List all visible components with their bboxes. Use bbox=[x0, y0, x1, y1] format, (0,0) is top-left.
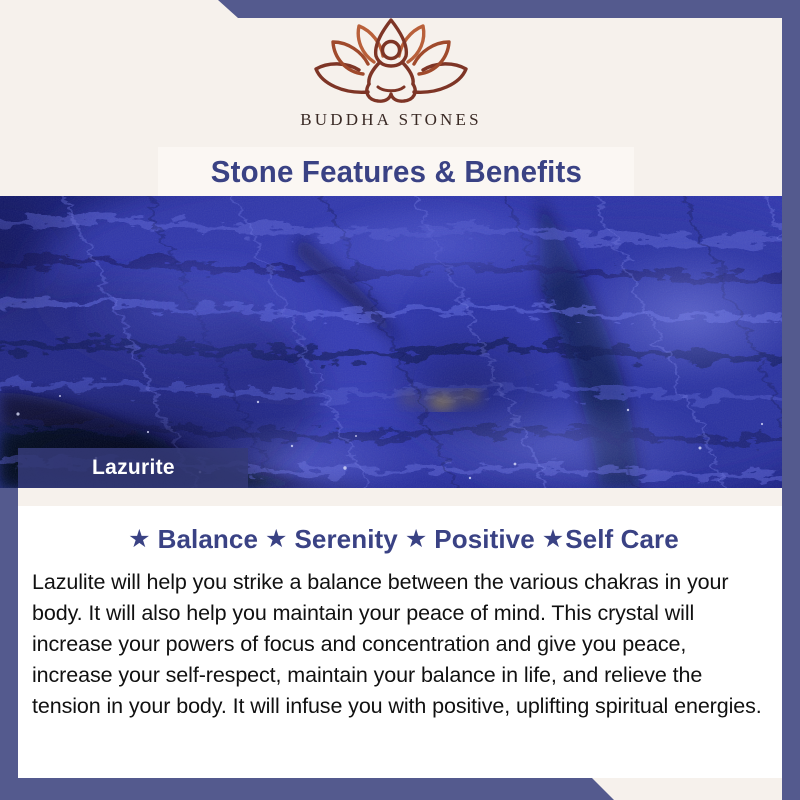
page-title: Stone Features & Benefits bbox=[210, 154, 581, 190]
stone-name-label: Lazurite bbox=[18, 456, 175, 480]
keyword-balance: Balance bbox=[158, 524, 258, 555]
content-panel: ★ Balance ★ Serenity ★ Positive ★ Self C… bbox=[18, 506, 782, 778]
decor-left-bar bbox=[0, 488, 18, 800]
keyword-list: ★ Balance ★ Serenity ★ Positive ★ Self C… bbox=[18, 506, 782, 555]
stone-info-poster: BUDDHA STONES Stone Features & Benefits bbox=[0, 0, 800, 800]
stone-texture-graphic bbox=[0, 196, 800, 488]
keyword-serenity: Serenity bbox=[294, 524, 397, 555]
decor-right-bar bbox=[782, 0, 800, 800]
stone-name-bar: Lazurite bbox=[18, 448, 248, 488]
brand-logo: BUDDHA STONES bbox=[0, 14, 782, 130]
keyword-positive: Positive bbox=[434, 524, 535, 555]
decor-bottom-bar bbox=[0, 778, 800, 800]
title-band: Stone Features & Benefits bbox=[158, 147, 634, 196]
lotus-meditation-figure-icon bbox=[306, 14, 476, 106]
stone-description: Lazulite will help you strike a balance … bbox=[32, 567, 768, 722]
cream-divider-strip bbox=[0, 488, 782, 506]
star-icon: ★ bbox=[398, 527, 434, 552]
brand-name: BUDDHA STONES bbox=[300, 110, 482, 130]
keyword-self-care: Self Care bbox=[565, 524, 679, 555]
lazurite-stone-photo bbox=[0, 196, 800, 488]
star-icon: ★ bbox=[121, 527, 157, 552]
star-icon: ★ bbox=[535, 527, 565, 552]
star-icon: ★ bbox=[258, 527, 294, 552]
